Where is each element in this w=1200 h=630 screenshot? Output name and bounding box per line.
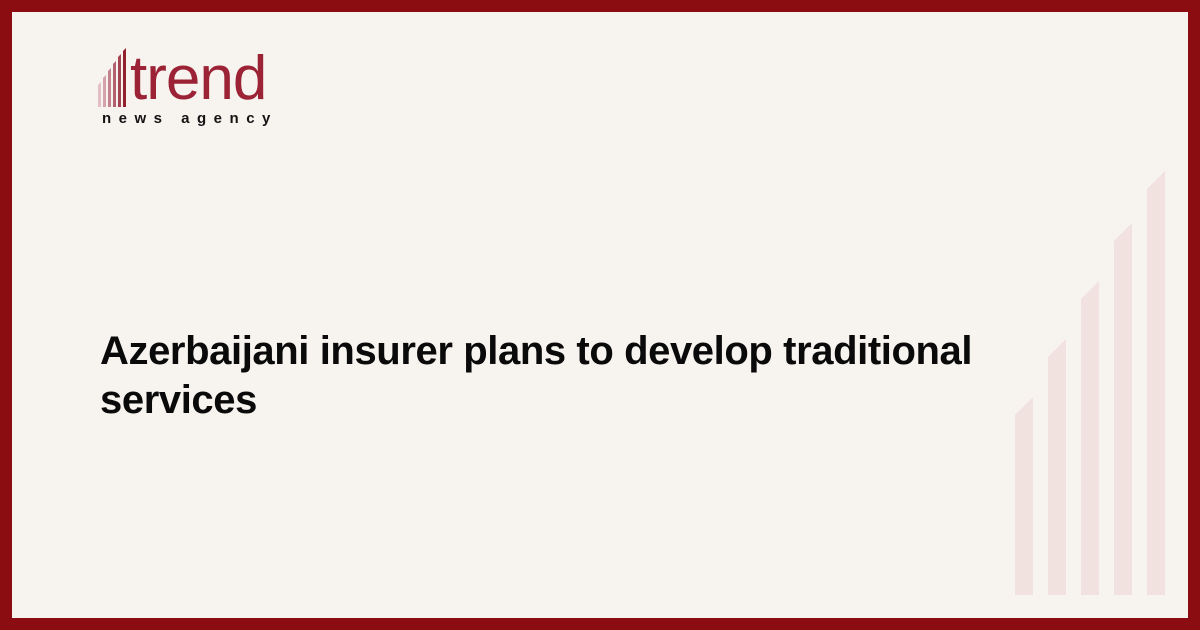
logo-bar-bevel (98, 82, 101, 85)
logo-bar-bevel (118, 54, 121, 57)
watermark-bar-1 (1015, 415, 1033, 595)
article-headline: Azerbaijani insurer plans to develop tra… (100, 327, 1110, 425)
logo-bar-body (123, 51, 126, 107)
ascending-bars-icon (98, 53, 128, 107)
logo-bar-bevel (123, 48, 126, 51)
logo-bar-2 (103, 78, 106, 107)
logo-bar-bevel (108, 68, 111, 71)
logo-bar-1 (98, 85, 101, 107)
card-canvas: trend news agency Azerbaijani insurer pl… (12, 12, 1188, 618)
logo-bar-5 (118, 57, 121, 107)
logo-bar-body (98, 85, 101, 107)
social-share-card: trend news agency Azerbaijani insurer pl… (0, 0, 1200, 630)
logo-mark-row: trend (98, 45, 358, 107)
logo-bar-body (118, 57, 121, 107)
logo-bar-6 (123, 51, 126, 107)
watermark-bar-bevel (1081, 281, 1099, 299)
brand-wordmark: trend (130, 50, 266, 107)
logo-bar-body (113, 64, 116, 107)
logo-bar-3 (108, 71, 111, 107)
brand-logo[interactable]: trend news agency (98, 45, 358, 127)
logo-bar-bevel (113, 61, 116, 64)
logo-bar-4 (113, 64, 116, 107)
brand-tagline: news agency (102, 110, 358, 127)
logo-bar-body (108, 71, 111, 107)
watermark-bar-bevel (1114, 223, 1132, 241)
watermark-bar-4 (1114, 241, 1132, 595)
logo-bar-body (103, 78, 106, 107)
watermark-bar-bevel (1147, 171, 1165, 189)
watermark-bar-5 (1147, 189, 1165, 595)
logo-bar-bevel (103, 75, 106, 78)
